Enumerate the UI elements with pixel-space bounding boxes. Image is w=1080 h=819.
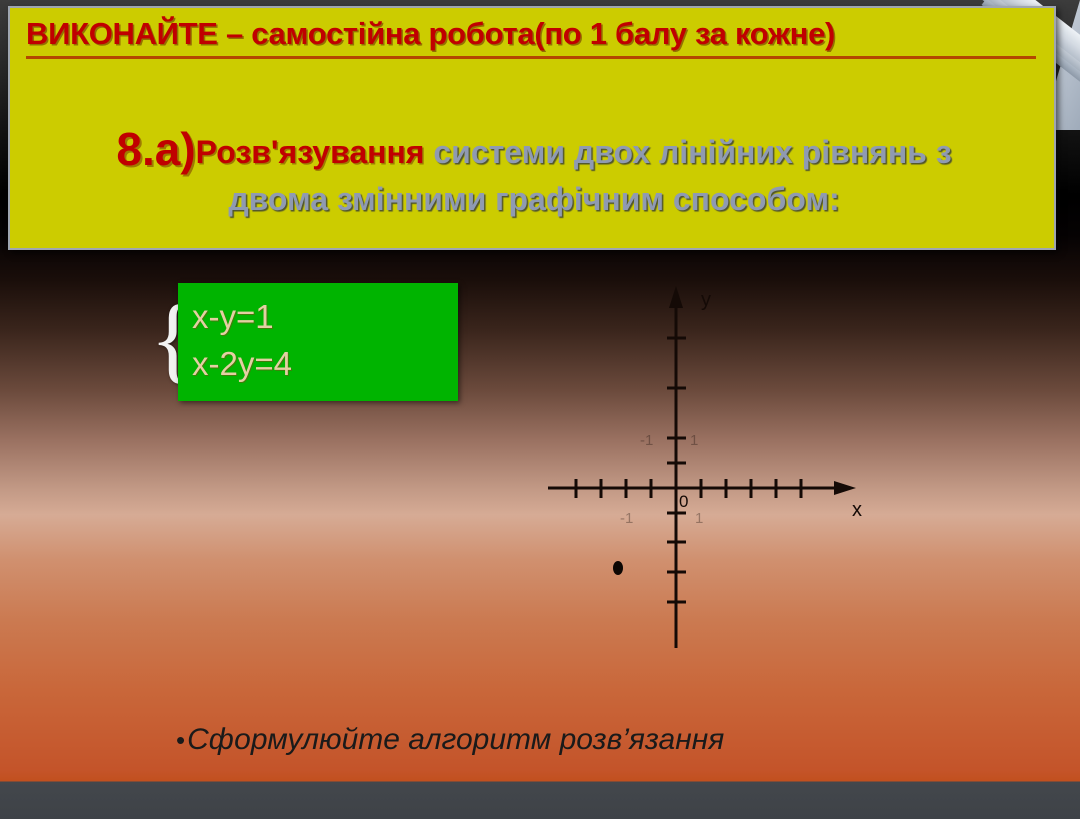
origin-label: 0 [679,492,688,511]
task-number: 8.а) [116,123,195,175]
tick-label-y-positive: 1 [690,432,698,449]
tick-label-y-negative: -1 [640,432,653,449]
header-panel: ВИКОНАЙТЕ – самостійна робота(по 1 балу … [8,6,1056,250]
axes-svg: 1 -1 1 -1 0 у х [540,280,900,660]
equation-system: { x-y=1 x-2y=4 [150,283,458,401]
footer-task-text: Сформулюйте алгоритм розв’язання [187,722,724,758]
subtitle-line-2: двома змінними графічним способом: [228,181,839,217]
equation-line-1: x-y=1 [192,298,274,336]
tick-label-x-positive: 1 [695,510,703,527]
subtitle-line-1: системи двох лінійних рівнянь з [424,134,951,170]
slide-canvas: ВИКОНАЙТЕ – самостійна робота(по 1 балу … [0,0,1080,819]
plot-point-marker [613,561,623,575]
tick-label-x-negative: -1 [620,510,633,527]
subtitle-block: 8.а)Розв'язування системи двох лінійних … [20,120,1048,220]
footer-bullet-row: • Сформулюйте алгоритм розв’язання [176,722,724,758]
y-axis-arrow-icon [669,286,683,308]
page-title: ВИКОНАЙТЕ – самостійна робота(по 1 балу … [26,16,1036,59]
x-axis-arrow-icon [834,481,856,495]
bullet-icon: • [176,722,185,758]
subtitle-emphasis: Розв'язування [196,134,425,170]
y-axis-label: у [701,289,711,311]
x-axis-label: х [852,499,862,521]
equation-box: x-y=1 x-2y=4 [178,283,458,401]
coordinate-plane: 1 -1 1 -1 0 у х [540,280,900,660]
equation-line-2: x-2y=4 [192,345,292,383]
